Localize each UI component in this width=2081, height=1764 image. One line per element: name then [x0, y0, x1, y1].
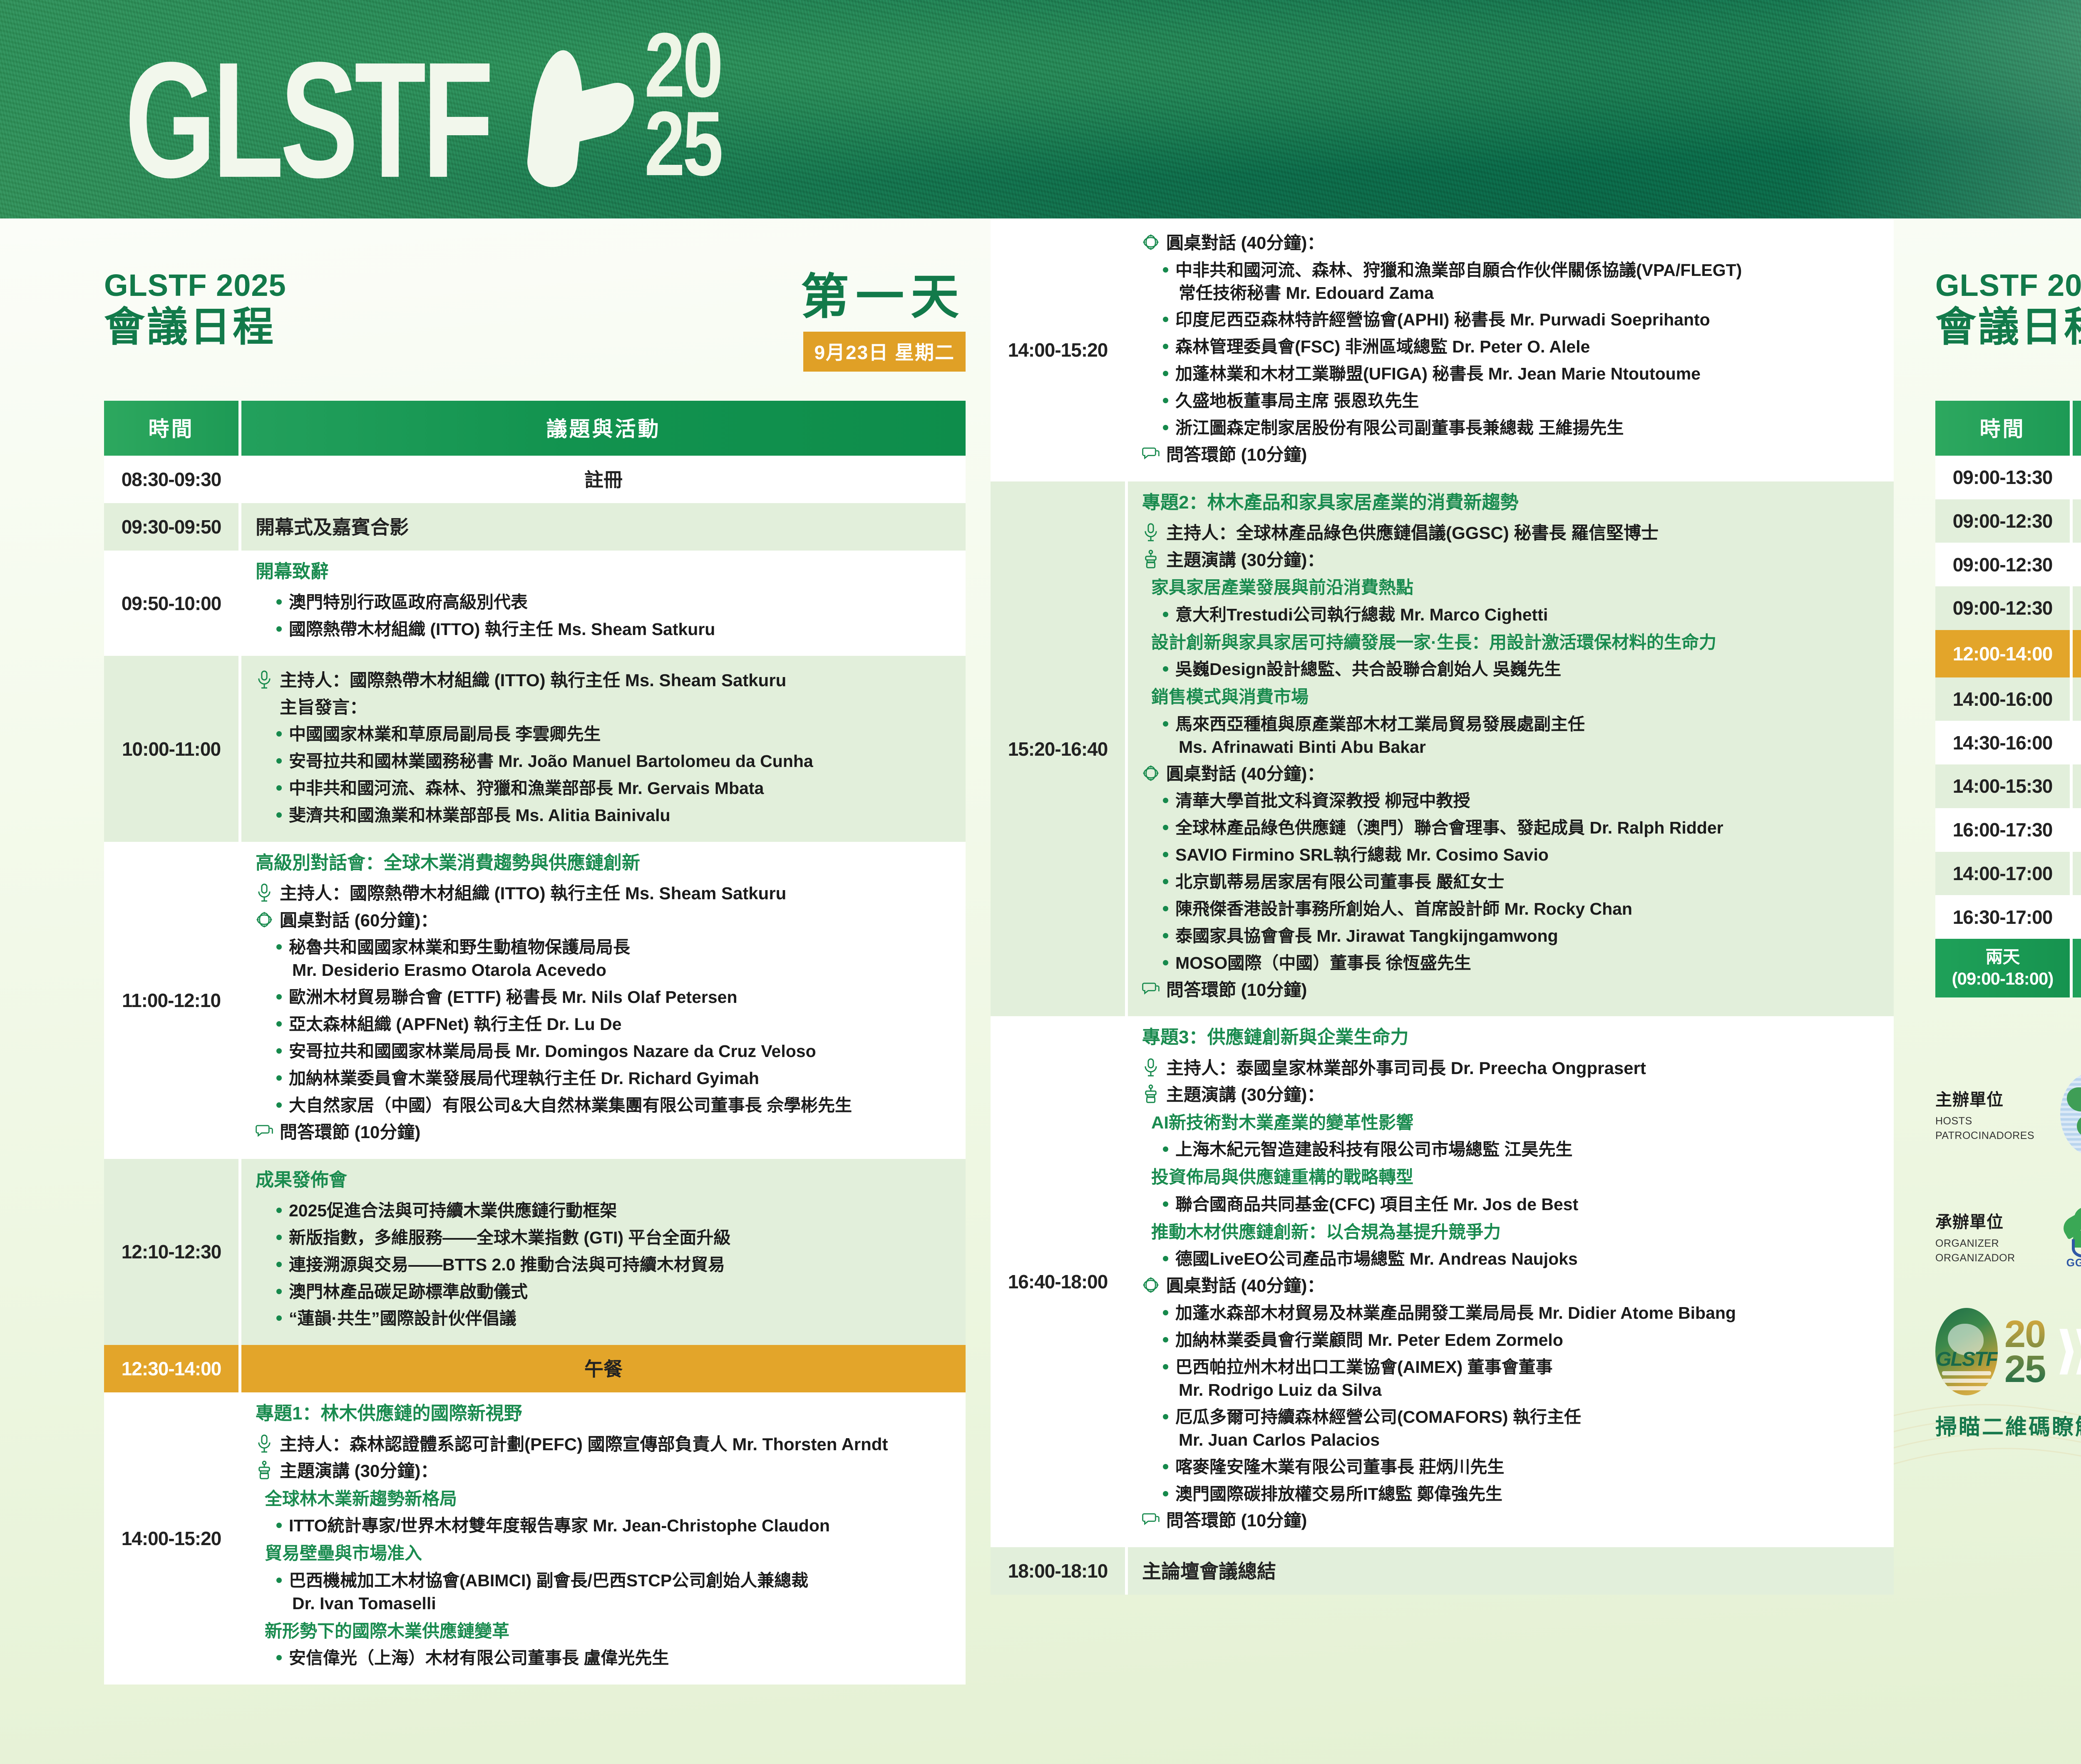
day2-title-line2: 會議日程 — [1935, 303, 2081, 351]
table-row: 09:50-10:00開幕致辭澳門特別行政區政府高級別代表國際熱帶木材組織 (I… — [104, 551, 966, 656]
itto-globe-label: ITTO — [2060, 1138, 2081, 1149]
host-text: 主持人：森林認證體系認可計劃(PEFC) 國際宣傳部負責人 Mr. Thorst… — [280, 1433, 888, 1456]
roundtable-text: 圓桌對話 (40分鐘)： — [1166, 1275, 1324, 1298]
row-time: 15:20-16:40 — [991, 481, 1128, 1017]
host-text: 主持人：泰國皇家林業部外事司司長 Dr. Preecha Ongprasert — [1166, 1057, 1646, 1080]
row-time: 10:00-11:00 — [104, 656, 241, 842]
table-row: 09:00-13:30專業分論壇1: 木材合法性與可持續性——應對全球木材貿易壁… — [1935, 456, 2081, 499]
qa-text: 問答環節 (10分鐘) — [1166, 979, 1307, 1002]
row-content: 可持續木業展 — [2073, 939, 2081, 997]
qr-section: GLSTF 20 25 掃瞄二維碼瞭解活動詳情 — [1935, 1306, 2081, 1443]
row-time: 09:00-12:30 — [1935, 543, 2073, 586]
glstf-small-wordmark: GLSTF — [1935, 1348, 1998, 1371]
list-item: 安哥拉共和國林業國務秘書 Mr. João Manuel Bartolomeu … — [275, 750, 951, 773]
group-label: 新形勢下的國際木業供應鏈變革 — [265, 1620, 951, 1643]
row-content: 專題1：林木供應鏈的國際新視野主持人：森林認證體系認可計劃(PEFC) 國際宣傳… — [241, 1392, 966, 1685]
spacer-icon — [256, 697, 273, 716]
list-item: 歐洲木材貿易聯合會 (ETTF) 秘書長 Mr. Nils Olaf Peter… — [275, 986, 951, 1009]
organizer-label-pt: ORGANIZADOR — [1935, 1252, 2044, 1264]
day1-col-time: 時間 — [104, 401, 241, 456]
host-line: 主持人：國際熱帶木材組織 (ITTO) 執行主任 Ms. Sheam Satku… — [256, 669, 951, 692]
row-content: 商務對接活動 — [2073, 677, 2081, 721]
table-row: 兩天(09:00-18:00)可持續木業展 — [1935, 939, 2081, 997]
day2-header: GLSTF 2025 會議日程 第二天 9月24日 星期三 — [1935, 268, 2081, 372]
list-item: 加納林業委員會木業發展局代理執行主任 Dr. Richard Gyimah — [275, 1067, 951, 1090]
day2-table-body: 09:00-13:30專業分論壇1: 木材合法性與可持續性——應對全球木材貿易壁… — [1935, 456, 2081, 997]
ggsc-logo: GGSC 全球林产品绿色供应链倡议 GLOBAL GREEN SUPPLY CH… — [2060, 1205, 2081, 1268]
row-heading: 專題2：林木產品和家具家居產業的消費新趨勢 — [1142, 491, 1880, 514]
glstf-logo: GLSTF 20 25 — [125, 50, 721, 187]
qr-year-bottom: 25 — [2004, 1352, 2045, 1387]
sponsor-row-hosts: 主辦單位 HOSTS PATROCINADORES ITTO ITTO INTE… — [1935, 1054, 2081, 1174]
list-item: 印度尼西亞森林特許經營協會(APHI) 秘書長 Mr. Purwadi Soep… — [1161, 308, 1880, 331]
list-item: 加納林業委員會行業顧問 Mr. Peter Edem Zormelo — [1161, 1329, 1880, 1352]
row-content: 專業分論壇1: 木材合法性與可持續性——應對全球木材貿易壁壘的不確定性 — [2073, 456, 2081, 499]
row-heading: 成果發佈會 — [256, 1168, 951, 1192]
list-item: ITTO統計專家/世界木材雙年度報告專家 Mr. Jean-Christophe… — [275, 1514, 951, 1537]
list-item-continuation: Mr. Rodrigo Luiz da Silva — [1175, 1379, 1880, 1402]
glstf-wordmark: GLSTF — [125, 52, 490, 187]
list-item: 浙江圖森定制家居股份有限公司副董事長兼總裁 王維揚先生 — [1161, 417, 1880, 439]
hosts-label-cn: 主辦單位 — [1935, 1086, 2044, 1110]
group-label: 銷售模式與消費市場 — [1151, 686, 1880, 709]
row-center-text: 註冊 — [256, 465, 951, 492]
row-content: 註冊 — [241, 456, 966, 503]
table-row: 09:00-12:30專業分論壇2: 可持續木材資源、市場和貿易——綠色、創新、… — [1935, 499, 2081, 543]
list-item: 森林管理委員會(FSC) 非洲區域總監 Dr. Peter O. Alele — [1161, 335, 1880, 358]
bullet-list: 安信偉光（上海）木材有限公司董事長 盧偉光先生 — [275, 1647, 951, 1670]
row-time: 11:00-12:10 — [104, 842, 241, 1159]
day1-table-head: 時間 議題與活動 — [104, 401, 966, 456]
row-content: 專題3：供應鏈創新與企業生命力主持人：泰國皇家林業部外事司司長 Dr. Pree… — [1128, 1016, 1894, 1547]
list-item: 加蓬水森部木材貿易及林業產品開發工業局局長 Mr. Didier Atome B… — [1161, 1302, 1880, 1325]
list-item: 中國國家林業和草原局副局長 李雲卿先生 — [275, 723, 951, 746]
table-row: 11:00-12:10高級別對話會：全球木業消費趨勢與供應鏈創新主持人：國際熱帶… — [104, 842, 966, 1159]
banner-year-bottom: 25 — [644, 105, 721, 184]
list-item: 秘魯共和國國家林業和野生動植物保護局局長Mr. Desiderio Erasmo… — [275, 936, 951, 982]
row-time: 09:00-12:30 — [1935, 499, 2073, 543]
keynote-label-line: 主旨發言： — [256, 696, 951, 719]
keynote-text: 主題演講 (30分鐘)： — [280, 1460, 438, 1483]
list-item: MOSO國際（中國）董事長 徐恆盛先生 — [1161, 952, 1880, 975]
table-row: 12:30-14:00午餐 — [104, 1345, 966, 1392]
day2-title-line1: GLSTF 2025 — [1935, 268, 2081, 303]
glstf-small-logo: GLSTF 20 25 — [1935, 1308, 2081, 1395]
microphone-icon — [256, 670, 273, 689]
row-content: 專業分論壇2: 可持續木材資源、市場和貿易——綠色、創新、可持續 — [2073, 499, 2081, 543]
qr-year: 20 25 — [2004, 1317, 2045, 1387]
roundtable-icon — [1142, 764, 1160, 783]
glstf-globe-icon: GLSTF — [1935, 1308, 1998, 1395]
row-time: 08:30-09:30 — [104, 456, 241, 503]
row-content: 設計驅動可持續發展圓桌對話會 — [2073, 764, 2081, 808]
host-line: 主持人：全球林產品綠色供應鏈倡議(GGSC) 秘書長 羅信堅博士 — [1142, 522, 1880, 545]
row-content: 高級別對話會：全球木業消費趨勢與供應鏈創新主持人：國際熱帶木材組織 (ITTO)… — [241, 842, 966, 1159]
roundtable-line: 圓桌對話 (60分鐘)： — [256, 909, 951, 932]
table-row: 09:00-12:30專業分論壇3: 家具家居的市場趨勢和產業發展——綠智賦能 … — [1935, 543, 2081, 586]
sponsors-section: 主辦單位 HOSTS PATROCINADORES ITTO ITTO INTE… — [1935, 1054, 2081, 1283]
list-item: 巴西機械加工木材協會(ABIMCI) 副會長/巴西STCP公司創始人兼總裁Dr.… — [275, 1569, 951, 1615]
day1-title: GLSTF 2025 會議日程 — [104, 268, 286, 351]
bullet-list: 中國國家林業和草原局副局長 李雲卿先生安哥拉共和國林業國務秘書 Mr. João… — [275, 723, 951, 827]
keynote-line: 主題演講 (30分鐘)： — [1142, 1084, 1880, 1107]
row-content: 午餐 — [241, 1345, 966, 1392]
list-item: 中非共和國河流、森林、狩獵和漁業部自願合作伙伴關係協議(VPA/FLEGT)常任… — [1161, 259, 1880, 305]
day1-schedule-table-cont: 14:00-15:20圓桌對話 (40分鐘)：中非共和國河流、森林、狩獵和漁業部… — [991, 218, 1894, 1595]
hosts-label-en: HOSTS — [1935, 1115, 2044, 1127]
list-item: 泰國家具協會會長 Mr. Jirawat Tangkijngamwong — [1161, 925, 1880, 948]
row-text: 開幕式及嘉賓合影 — [256, 512, 951, 540]
qa-bubble-icon — [1142, 1510, 1160, 1529]
day2-table-head: 時間 議題與活動 — [1935, 401, 2081, 456]
list-item-continuation: Ms. Afrinawati Binti Abu Bakar — [1175, 736, 1880, 759]
list-item: 國際熱帶木材組織 (ITTO) 執行主任 Ms. Sheam Satkuru — [275, 618, 951, 641]
row-content: 全球青年領導力圓桌對話會——企業文化傳承 — [2073, 808, 2081, 852]
day1-table-body: 08:30-09:30註冊09:30-09:50開幕式及嘉賓合影09:50-10… — [104, 456, 966, 1685]
row-time: 14:00-15:30 — [1935, 764, 2073, 808]
row-heading: 高級別對話會：全球木業消費趨勢與供應鏈創新 — [256, 851, 951, 875]
host-text: 主持人：國際熱帶木材組織 (ITTO) 執行主任 Ms. Sheam Satku… — [280, 669, 786, 692]
row-time: 14:00-15:20 — [991, 218, 1128, 481]
row-time: 14:00-15:20 — [104, 1392, 241, 1685]
group-label: 推動木材供應鏈創新：以合規為基提升競爭力 — [1151, 1221, 1880, 1244]
list-item: 加蓬林業和木材工業聯盟(UFIGA) 秘書長 Mr. Jean Marie Nt… — [1161, 362, 1880, 385]
bullet-list: 德國LiveEO公司產品市場總監 Mr. Andreas Naujoks — [1161, 1248, 1880, 1270]
sponsor-row-organizer-and-diamond: 承辦單位 ORGANIZER ORGANIZADOR GGSC 全球林产品绿色供… — [1935, 1191, 2081, 1283]
row-content: 專業分論壇3: 家具家居的市場趨勢和產業發展——綠智賦能 趨勢共生 — [2073, 543, 2081, 586]
table-row: 14:30-16:00“她”力量圓桌對話會——她，引領可持續發展未來 — [1935, 721, 2081, 764]
table-row: 09:30-09:50開幕式及嘉賓合影 — [104, 503, 966, 551]
list-item: “蓮韻·共生”國際設計伙伴倡議 — [275, 1307, 951, 1330]
list-item: 安信偉光（上海）木材有限公司董事長 盧偉光先生 — [275, 1647, 951, 1670]
list-item: 亞太森林組織 (APFNet) 執行主任 Dr. Lu De — [275, 1013, 951, 1036]
row-time: 12:00-14:00 — [1935, 630, 2073, 677]
leaf-icon — [497, 50, 621, 187]
qa-text: 問答環節 (10分鐘) — [1166, 1509, 1307, 1532]
row-content: 成果發佈會2025促進合法與可持續木業供應鏈行動框架新版指數，多維服務——全球木… — [241, 1159, 966, 1345]
qa-text: 問答環節 (10分鐘) — [1166, 444, 1307, 466]
row-time: 12:30-14:00 — [104, 1345, 241, 1392]
list-item: 連接溯源與交易——BTTS 2.0 推動合法與可持續木材貿易 — [275, 1253, 951, 1276]
row-content: “她”力量圓桌對話會——她，引領可持續發展未來 — [2073, 721, 2081, 764]
table-row: 08:30-09:30註冊 — [104, 456, 966, 503]
roundtable-line: 圓桌對話 (40分鐘)： — [1142, 1275, 1880, 1298]
day1-column-right: 14:00-15:20圓桌對話 (40分鐘)：中非共和國河流、森林、狩獵和漁業部… — [991, 218, 1915, 1764]
row-text: 主論壇會議總結 — [1142, 1556, 1880, 1584]
microphone-icon — [256, 883, 273, 902]
qr-left: GLSTF 20 25 掃瞄二維碼瞭解活動詳情 — [1935, 1308, 2081, 1441]
qr-year-top: 20 — [2004, 1317, 2045, 1352]
day1-label: 第一天 — [801, 273, 966, 321]
row-content: 開幕式及嘉賓合影 — [241, 503, 966, 551]
organizer-label-cn: 承辦單位 — [1935, 1208, 2044, 1233]
row-time: 09:00-13:30 — [1935, 456, 2073, 499]
table-row: 18:00-18:10主論壇會議總結 — [991, 1547, 1894, 1595]
keynote-line: 主題演講 (30分鐘)： — [256, 1460, 951, 1483]
header-banner: GLSTF 20 25 — [0, 0, 2081, 218]
hosts-label-pt: PATROCINADORES — [1935, 1130, 2044, 1142]
row-center-text: 午餐 — [256, 1354, 951, 1382]
roundtable-text: 圓桌對話 (60分鐘)： — [280, 909, 438, 932]
day1-column-left: GLSTF 2025 會議日程 第一天 9月23日 星期二 時間 議題與活動 0… — [0, 218, 991, 1764]
keynote-text: 主題演講 (30分鐘)： — [1166, 1084, 1324, 1107]
qa-line: 問答環節 (10分鐘) — [1142, 444, 1880, 466]
roundtable-icon — [1142, 1275, 1160, 1295]
table-row: 14:00-15:20專題1：林木供應鏈的國際新視野主持人：森林認證體系認可計劃… — [104, 1392, 966, 1685]
bullet-list: 馬來西亞種植與原產業部木材工業局貿易發展處副主任Ms. Afrinawati B… — [1161, 713, 1880, 759]
day1-cont-table-body: 14:00-15:20圓桌對話 (40分鐘)：中非共和國河流、森林、狩獵和漁業部… — [991, 218, 1894, 1595]
day2-column: GLSTF 2025 會議日程 第二天 9月24日 星期三 時間 議題與活動 0… — [1915, 218, 2081, 1764]
list-item: 2025促進合法與可持續木業供應鏈行動框架 — [275, 1199, 951, 1222]
table-row: 12:00-14:00午餐（自行安排） — [1935, 630, 2081, 677]
bullet-list: 秘魯共和國國家林業和野生動植物保護局局長Mr. Desiderio Erasmo… — [275, 936, 951, 1117]
host-text: 主持人：全球林產品綠色供應鏈倡議(GGSC) 秘書長 羅信堅博士 — [1166, 522, 1659, 545]
day1-header: GLSTF 2025 會議日程 第一天 9月23日 星期二 — [104, 268, 966, 372]
list-item: 巴西帕拉州木材出口工業協會(AIMEX) 董事會董事Mr. Rodrigo Lu… — [1161, 1356, 1880, 1402]
row-content: 午餐（自行安排） — [2073, 630, 2081, 677]
day2-col-time: 時間 — [1935, 401, 2073, 456]
list-item: 吳巍Design設計總監、共合設聯合創始人 吳巍先生 — [1161, 658, 1880, 681]
list-item: 安哥拉共和國國家林業局局長 Mr. Domingos Nazare da Cru… — [275, 1040, 951, 1063]
bullet-list: ITTO統計專家/世界木材雙年度報告專家 Mr. Jean-Christophe… — [275, 1514, 951, 1537]
list-item-continuation: 常任技術秘書 Mr. Edouard Zama — [1175, 282, 1880, 305]
list-item-continuation: Dr. Ivan Tomaselli — [289, 1592, 951, 1615]
list-item: 澳門國際碳排放權交易所IT總監 鄭偉強先生 — [1161, 1483, 1880, 1506]
podium-icon — [1142, 550, 1160, 569]
day1-date: 9月23日 星期二 — [803, 332, 966, 372]
list-item-continuation: Mr. Desiderio Erasmo Otarola Acevedo — [289, 959, 951, 982]
list-item: 聯合國商品共同基金(CFC) 項目主任 Mr. Jos de Best — [1161, 1193, 1880, 1216]
row-heading: 專題3：供應鏈創新與企業生命力 — [1142, 1025, 1880, 1049]
host-line: 主持人：森林認證體系認可計劃(PEFC) 國際宣傳部負責人 Mr. Thorst… — [256, 1433, 951, 1456]
list-item: 厄瓜多爾可持續森林經營公司(COMAFORS) 執行主任Mr. Juan Car… — [1161, 1406, 1880, 1451]
qa-bubble-icon — [1142, 444, 1160, 464]
itto-logo: ITTO ITTO INTERNATIONAL TROPICAL TIMBER … — [2060, 1072, 2081, 1156]
table-row: 16:40-18:00專題3：供應鏈創新與企業生命力主持人：泰國皇家林業部外事司… — [991, 1016, 1894, 1547]
keynote-text: 主題演講 (30分鐘)： — [1166, 549, 1324, 572]
day1-badge: 第一天 9月23日 星期二 — [801, 268, 966, 372]
itto-globe-icon: ITTO — [2060, 1072, 2081, 1156]
row-time: 兩天(09:00-18:00) — [1935, 939, 2073, 997]
host-line: 主持人：國際熱帶木材組織 (ITTO) 執行主任 Ms. Sheam Satku… — [256, 882, 951, 905]
row-time: 14:00-16:00 — [1935, 677, 2073, 721]
row-time: 12:10-12:30 — [104, 1159, 241, 1345]
roundtable-icon — [1142, 233, 1160, 252]
bullet-list: 巴西機械加工木材協會(ABIMCI) 副會長/巴西STCP公司創始人兼總裁Dr.… — [275, 1569, 951, 1615]
list-item: 清華大學首批文科資深教授 柳冠中教授 — [1161, 789, 1880, 812]
bullet-list: 中非共和國河流、森林、狩獵和漁業部自願合作伙伴關係協議(VPA/FLEGT)常任… — [1161, 259, 1880, 440]
host-text: 主持人：國際熱帶木材組織 (ITTO) 執行主任 Ms. Sheam Satku… — [280, 882, 786, 905]
list-item: SAVIO Firmino SRL執行總裁 Mr. Cosimo Savio — [1161, 844, 1880, 866]
podium-icon — [256, 1461, 273, 1480]
row-content: 新聞發佈會 — [2073, 895, 2081, 939]
row-time: 14:30-16:00 — [1935, 721, 2073, 764]
bullet-list: 澳門特別行政區政府高級別代表國際熱帶木材組織 (ITTO) 執行主任 Ms. S… — [275, 591, 951, 641]
roundtable-line: 圓桌對話 (40分鐘)： — [1142, 763, 1880, 786]
row-time: 09:50-10:00 — [104, 551, 241, 656]
microphone-icon — [256, 1434, 273, 1453]
bullet-list: 聯合國商品共同基金(CFC) 項目主任 Mr. Jos de Best — [1161, 1193, 1880, 1216]
row-time: 14:00-17:00 — [1935, 852, 2073, 896]
list-item: 全球林產品綠色供應鏈（澳門）聯合會理事、發起成員 Dr. Ralph Ridde… — [1161, 816, 1880, 839]
row-content: 主論壇會議總結 — [1128, 1547, 1894, 1595]
list-item: 大自然家居（中國）有限公司&大自然林業集團有限公司董事長 佘學彬先生 — [275, 1094, 951, 1117]
list-item: 北京凱蒂易居家居有限公司董事長 嚴紅女士 — [1161, 871, 1880, 893]
table-row: 10:00-11:00主持人：國際熱帶木材組織 (ITTO) 執行主任 Ms. … — [104, 656, 966, 842]
list-item: 馬來西亞種植與原產業部木材工業局貿易發展處副主任Ms. Afrinawati B… — [1161, 713, 1880, 759]
day2-schedule-table: 時間 議題與活動 09:00-13:30專業分論壇1: 木材合法性與可持續性——… — [1935, 401, 2081, 997]
day1-title-line2: 會議日程 — [104, 303, 286, 351]
qa-bubble-icon — [1142, 980, 1160, 999]
bullet-list: 2025促進合法與可持續木業供應鏈行動框架新版指數，多維服務——全球木業指數 (… — [275, 1199, 951, 1330]
group-label: AI新技術對木業產業的變革性影響 — [1151, 1111, 1880, 1134]
microphone-icon — [1142, 1058, 1160, 1077]
roundtable-line: 圓桌對話 (40分鐘)： — [1142, 232, 1880, 255]
microphone-icon — [1142, 523, 1160, 542]
day2-col-topic: 議題與活動 — [2073, 401, 2081, 456]
banner-fade — [1804, 0, 2081, 218]
sponsor-label-hosts: 主辦單位 HOSTS PATROCINADORES — [1935, 1086, 2044, 1142]
organizer-label-en: ORGANIZER — [1935, 1238, 2044, 1250]
row-time: 09:30-09:50 — [104, 503, 241, 551]
qr-caption: 掃瞄二維碼瞭解活動詳情 — [1935, 1409, 2081, 1441]
list-item: 中非共和國河流、森林、狩獵和漁業部部長 Mr. Gervais Mbata — [275, 777, 951, 800]
banner-year: 20 25 — [644, 27, 721, 184]
row-content: 開幕致辭澳門特別行政區政府高級別代表國際熱帶木材組織 (ITTO) 執行主任 M… — [241, 551, 966, 656]
list-item: 喀麥隆安隆木業有限公司董事長 莊炳川先生 — [1161, 1456, 1880, 1479]
group-label: 全球林木業新趨勢新格局 — [265, 1488, 951, 1511]
bullet-list: 吳巍Design設計總監、共合設聯合創始人 吳巍先生 — [1161, 658, 1880, 681]
row-heading: 開幕致辭 — [256, 560, 951, 583]
podium-icon — [1142, 1084, 1160, 1104]
list-item: 德國LiveEO公司產品市場總監 Mr. Andreas Naujoks — [1161, 1248, 1880, 1270]
group-label: 投資佈局與供應鏈重構的戰略轉型 — [1151, 1166, 1880, 1189]
row-content: 圓桌對話 (40分鐘)：中非共和國河流、森林、狩獵和漁業部自願合作伙伴關係協議(… — [1128, 218, 1894, 481]
table-row: 16:00-17:30全球青年領導力圓桌對話會——企業文化傳承 — [1935, 808, 2081, 852]
list-item: 意大利Trestudi公司執行總裁 Mr. Marco Cighetti — [1161, 603, 1880, 626]
row-time: 16:00-17:30 — [1935, 808, 2073, 852]
list-item: 上海木紀元智造建設科技有限公司市場總監 江昊先生 — [1161, 1138, 1880, 1161]
table-row: 14:00-16:00商務對接活動 — [1935, 677, 2081, 721]
list-item: 澳門林產品碳足跡標準啟動儀式 — [275, 1280, 951, 1303]
list-item: 斐濟共和國漁業和林業部部長 Ms. Alitia Bainivalu — [275, 804, 951, 827]
ggsc-clover-icon: GGSC — [2060, 1205, 2081, 1268]
row-heading: 專題1：林木供應鏈的國際新視野 — [256, 1402, 951, 1425]
bullet-list: 加蓬水森部木材貿易及林業產品開發工業局局長 Mr. Didier Atome B… — [1161, 1302, 1880, 1506]
list-item: 久盛地板董事局主席 張恩玖先生 — [1161, 390, 1880, 412]
table-row: 12:10-12:30成果發佈會2025促進合法與可持續木業供應鏈行動框架新版指… — [104, 1159, 966, 1345]
qa-line: 問答環節 (10分鐘) — [1142, 979, 1880, 1002]
list-item: 新版指數，多維服務——全球木業指數 (GTI) 平台全面升級 — [275, 1226, 951, 1249]
table-row: 09:00-12:30專業分論壇4: 全球森林可持續發展與供應鏈金融——林業供應… — [1935, 586, 2081, 630]
agenda-sheet: GLSTF 2025 會議日程 第一天 9月23日 星期二 時間 議題與活動 0… — [0, 218, 2081, 1764]
day2-title: GLSTF 2025 會議日程 — [1935, 268, 2081, 351]
row-content: 主持人：國際熱帶木材組織 (ITTO) 執行主任 Ms. Sheam Satku… — [241, 656, 966, 842]
bullet-list: 上海木紀元智造建設科技有限公司市場總監 江昊先生 — [1161, 1138, 1880, 1161]
list-item: 澳門特別行政區政府高級別代表 — [275, 591, 951, 614]
table-row: 14:00-15:30設計驅動可持續發展圓桌對話會 — [1935, 764, 2081, 808]
qa-line: 問答環節 (10分鐘) — [1142, 1509, 1880, 1532]
chevron-right-icon — [2059, 1329, 2081, 1374]
roundtable-text: 圓桌對話 (40分鐘)： — [1166, 763, 1324, 786]
qa-line: 問答環節 (10分鐘) — [256, 1121, 951, 1144]
bullet-list: 清華大學首批文科資深教授 柳冠中教授全球林產品綠色供應鏈（澳門）聯合會理事、發起… — [1161, 789, 1880, 975]
row-time: 09:00-12:30 — [1935, 586, 2073, 630]
day1-col-topic: 議題與活動 — [241, 401, 966, 456]
keynote-line: 主題演講 (30分鐘)： — [1142, 549, 1880, 572]
table-row: 15:20-16:40專題2：林木產品和家具家居產業的消費新趨勢主持人：全球林產… — [991, 481, 1894, 1017]
row-time: 16:30-17:00 — [1935, 895, 2073, 939]
row-content: 專業分論壇4: 全球森林可持續發展與供應鏈金融——林業供應鏈金融與生態產品價值提… — [2073, 586, 2081, 630]
roundtable-text: 圓桌對話 (40分鐘)： — [1166, 232, 1324, 255]
qa-text: 問答環節 (10分鐘) — [280, 1121, 420, 1144]
qa-bubble-icon — [256, 1122, 273, 1141]
row-content: 部長、頭部企業、金融機構閉門會議 — [2073, 852, 2081, 896]
day1-title-line1: GLSTF 2025 — [104, 268, 286, 303]
list-item-continuation: Mr. Juan Carlos Palacios — [1175, 1429, 1880, 1451]
keynote-label: 主旨發言： — [280, 696, 367, 719]
row-time: 18:00-18:10 — [991, 1547, 1128, 1595]
row-time: 16:40-18:00 — [991, 1016, 1128, 1547]
bullet-list: 意大利Trestudi公司執行總裁 Mr. Marco Cighetti — [1161, 603, 1880, 626]
table-row: 16:30-17:00新聞發佈會 — [1935, 895, 2081, 939]
table-row: 14:00-15:20圓桌對話 (40分鐘)：中非共和國河流、森林、狩獵和漁業部… — [991, 218, 1894, 481]
table-row: 14:00-17:00部長、頭部企業、金融機構閉門會議 — [1935, 852, 2081, 896]
group-label: 設計創新與家具家居可持續發展一家·生長：用設計激活環保材料的生命力 — [1151, 631, 1880, 654]
ggsc-mark-label: GGSC — [2060, 1256, 2081, 1269]
list-item: 陳飛傑香港設計事務所創始人、首席設計師 Mr. Rocky Chan — [1161, 898, 1880, 920]
group-label: 家具家居產業發展與前沿消費熱點 — [1151, 576, 1880, 599]
day1-schedule-table: 時間 議題與活動 08:30-09:30註冊09:30-09:50開幕式及嘉賓合… — [104, 401, 966, 1685]
group-label: 貿易壁壘與市場准入 — [265, 1542, 951, 1565]
host-line: 主持人：泰國皇家林業部外事司司長 Dr. Preecha Ongprasert — [1142, 1057, 1880, 1080]
roundtable-icon — [256, 910, 273, 929]
sponsor-label-organizer: 承辦單位 ORGANIZER ORGANIZADOR — [1935, 1208, 2044, 1264]
agenda-note: 註：具體會議議程以現場為準。 — [1935, 1012, 2081, 1030]
row-content: 專題2：林木產品和家具家居產業的消費新趨勢主持人：全球林產品綠色供應鏈倡議(GG… — [1128, 481, 1894, 1017]
